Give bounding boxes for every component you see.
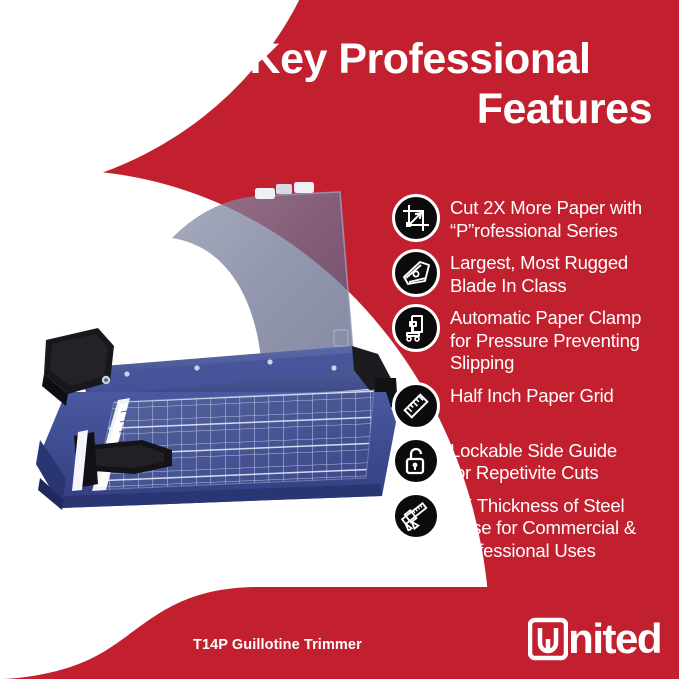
boxed-u-logo-icon bbox=[528, 617, 568, 661]
title-line-2: Features bbox=[180, 84, 660, 134]
crop-trim-icon bbox=[392, 194, 440, 242]
feature-text: Lockable Side Guide for Repetivite Cuts bbox=[450, 437, 617, 485]
feature-list: Cut 2X More Paper with “P”rofessional Se… bbox=[392, 194, 677, 569]
feature-line: Slipping bbox=[450, 352, 641, 375]
feature-item: Half Inch Paper Grid bbox=[392, 382, 677, 430]
feature-item: Largest, Most Rugged Blade In Class bbox=[392, 249, 677, 297]
blade-icon bbox=[392, 249, 440, 297]
feature-line: for Repetivite Cuts bbox=[450, 462, 617, 485]
feature-line: Automatic Paper Clamp bbox=[450, 307, 641, 330]
feature-item: Automatic Paper Clamp for Pressure Preve… bbox=[392, 304, 677, 375]
guillotine-paper-trimmer-photo bbox=[22, 178, 402, 523]
feature-line: Largest, Most Rugged bbox=[450, 252, 628, 275]
feature-text: Cut 2X More Paper with “P”rofessional Se… bbox=[450, 194, 642, 242]
feature-line: for Pressure Preventing bbox=[450, 330, 641, 353]
feature-line: Half Inch Paper Grid bbox=[450, 385, 614, 408]
united-logo: nited bbox=[528, 617, 661, 661]
clamp-icon bbox=[392, 304, 440, 352]
feature-item: Cut 2X More Paper with “P”rofessional Se… bbox=[392, 194, 677, 242]
product-feature-infographic: Key Professional Features bbox=[0, 0, 679, 679]
logo-wordmark: nited bbox=[568, 618, 661, 660]
feature-line: 2X Thickness of Steel bbox=[450, 495, 636, 518]
open-padlock-icon bbox=[392, 437, 440, 485]
feature-line: Base for Commercial & bbox=[450, 517, 636, 540]
feature-item: 2X Thickness of Steel Base for Commercia… bbox=[392, 492, 677, 563]
feature-text: 2X Thickness of Steel Base for Commercia… bbox=[450, 492, 636, 563]
feature-line: Professional Uses bbox=[450, 540, 636, 563]
ruler-icon bbox=[392, 382, 440, 430]
title-line-1: Key Professional bbox=[180, 34, 660, 84]
feature-text: Automatic Paper Clamp for Pressure Preve… bbox=[450, 304, 641, 375]
feature-line: “P”rofessional Series bbox=[450, 220, 642, 243]
page-title: Key Professional Features bbox=[180, 34, 660, 134]
product-caption: T14P Guillotine Trimmer bbox=[193, 637, 362, 653]
feature-line: Blade In Class bbox=[450, 275, 628, 298]
feature-line: Lockable Side Guide bbox=[450, 440, 617, 463]
caliper-icon bbox=[392, 492, 440, 540]
feature-text: Largest, Most Rugged Blade In Class bbox=[450, 249, 628, 297]
feature-text: Half Inch Paper Grid bbox=[450, 382, 614, 408]
feature-line: Cut 2X More Paper with bbox=[450, 197, 642, 220]
feature-item: Lockable Side Guide for Repetivite Cuts bbox=[392, 437, 677, 485]
